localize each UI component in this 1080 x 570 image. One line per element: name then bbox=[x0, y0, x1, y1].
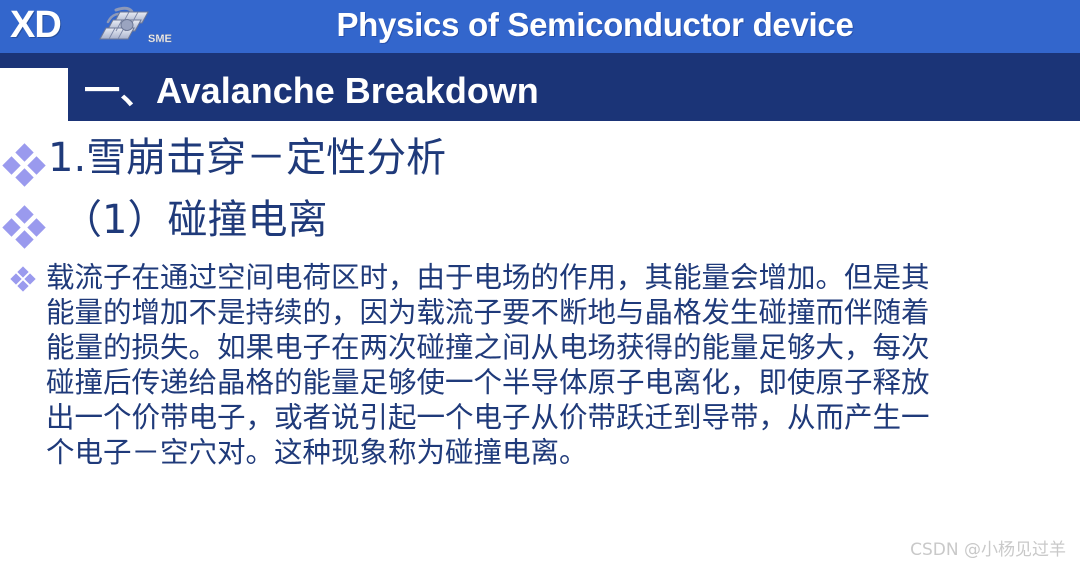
fleuron-diamond-bullet-icon bbox=[0, 260, 46, 290]
body-paragraph: 载流子在通过空间电荷区时，由于电场的作用，其能量会增加。但是其 能量的增加不是持… bbox=[0, 260, 1080, 470]
section-title: 一、Avalanche Breakdown bbox=[84, 67, 539, 115]
paragraph-line: 载流子在通过空间电荷区时，由于电场的作用，其能量会增加。但是其 bbox=[46, 260, 1041, 295]
watermark: CSDN @小杨见过羊 bbox=[910, 535, 1066, 560]
page-title: Physics of Semiconductor device bbox=[0, 0, 1080, 53]
heading-item-2-label: （1）碰撞电离 bbox=[48, 194, 327, 246]
heading-item-1-label: 1.雪崩击穿－定性分析 bbox=[48, 132, 446, 184]
heading-item-1: 1.雪崩击穿－定性分析 bbox=[0, 132, 1080, 184]
paragraph-line: 碰撞后传递给晶格的能量足够使一个半导体原子电离化，即使原子释放 bbox=[46, 365, 1041, 400]
heading-item-2: （1）碰撞电离 bbox=[0, 194, 1080, 246]
paragraph-line: 出一个价带电子，或者说引起一个电子从价带跃迁到导带，从而产生一 bbox=[46, 400, 1041, 435]
header-bar: XD bbox=[0, 0, 1080, 53]
slide-content: 1.雪崩击穿－定性分析 （1）碰撞电离 载流子在通过空间电荷区时，由于电场的作用… bbox=[0, 128, 1080, 470]
fleuron-diamond-bullet-icon bbox=[0, 132, 48, 184]
slide-root: XD bbox=[0, 0, 1080, 570]
body-paragraph-text: 载流子在通过空间电荷区时，由于电场的作用，其能量会增加。但是其 能量的增加不是持… bbox=[46, 260, 1041, 470]
paragraph-line: 能量的损失。如果电子在两次碰撞之间从电场获得的能量足够大，每次 bbox=[46, 330, 1041, 365]
banner-notch bbox=[0, 68, 68, 121]
fleuron-diamond-bullet-icon bbox=[0, 194, 48, 246]
paragraph-line: 能量的增加不是持续的，因为载流子要不断地与晶格发生碰撞而伴随着 bbox=[46, 295, 1041, 330]
paragraph-line: 个电子－空穴对。这种现象称为碰撞电离。 bbox=[46, 435, 1041, 470]
